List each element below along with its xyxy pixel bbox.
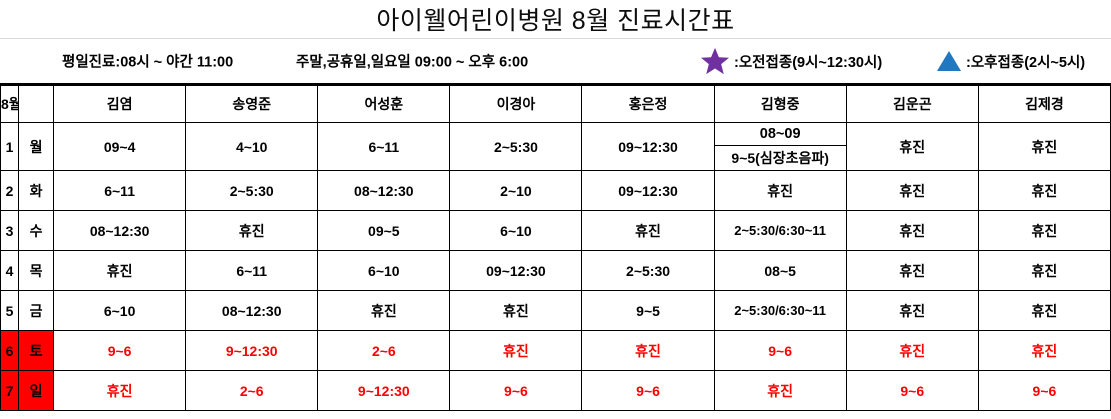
day-number: 3 — [1, 211, 19, 251]
schedule-cell: 08~12:30 — [54, 211, 186, 251]
schedule-cell: 휴진 — [54, 251, 186, 291]
doctor-header-2: 송영준 — [186, 86, 318, 123]
schedule-cell: 휴진 — [978, 171, 1110, 211]
day-number: 5 — [1, 291, 19, 331]
schedule-cell: 09~4 — [54, 123, 186, 171]
header-blank-cell — [19, 86, 54, 123]
title-bar: 아이웰어린이병원 8월 진료시간표 — [0, 0, 1111, 39]
schedule-cell: 휴진 — [714, 171, 846, 211]
schedule-cell: 6~10 — [54, 291, 186, 331]
schedule-cell: 9~5 — [582, 291, 714, 331]
day-of-week: 목 — [19, 251, 54, 291]
page-title: 아이웰어린이병원 8월 진료시간표 — [376, 1, 734, 37]
schedule-cell: 6~10 — [450, 211, 582, 251]
table-row: 2화6~112~5:3008~12:302~1009~12:30휴진휴진휴진 — [1, 171, 1111, 211]
schedule-cell: 휴진 — [978, 291, 1110, 331]
day-number: 1 — [1, 123, 19, 171]
doctor-header-6: 김형중 — [714, 86, 846, 123]
schedule-cell: 09~12:30 — [582, 171, 714, 211]
schedule-cell: 휴진 — [978, 211, 1110, 251]
schedule-cell: 6~11 — [54, 171, 186, 211]
schedule-cell: 휴진 — [846, 171, 978, 211]
day-of-week: 토 — [19, 331, 54, 371]
doctor-header-4: 이경아 — [450, 86, 582, 123]
doctor-header-3: 어성훈 — [318, 86, 450, 123]
table-row: 5금6~1008~12:30휴진휴진9~52~5:30/6:30~11휴진휴진 — [1, 291, 1111, 331]
schedule-cell: 휴진 — [186, 211, 318, 251]
legend-afternoon-vaccination: :오후접종(2시~5시) — [936, 49, 1085, 73]
schedule-cell: 2~5:30 — [582, 251, 714, 291]
schedule-cell: 9~6 — [978, 371, 1110, 411]
table-row: 7일휴진2~69~12:309~69~6휴진9~69~6 — [1, 371, 1111, 411]
schedule-cell-line-top: 08~09 — [715, 123, 846, 146]
table-row: 1월09~44~106~112~5:3009~12:3008~099~5(심장초… — [1, 123, 1111, 171]
schedule-cell: 휴진 — [846, 211, 978, 251]
schedule-cell: 휴진 — [714, 371, 846, 411]
day-of-week: 월 — [19, 123, 54, 171]
schedule-cell: 휴진 — [318, 291, 450, 331]
schedule-cell: 2~6 — [318, 331, 450, 371]
schedule-cell: 6~11 — [186, 251, 318, 291]
schedule-cell: 9~6 — [54, 331, 186, 371]
schedule-cell: 08~099~5(심장초음파) — [714, 123, 846, 171]
schedule-cell: 08~12:30 — [318, 171, 450, 211]
schedule-cell-line-bottom: 9~5(심장초음파) — [715, 146, 846, 170]
table-row: 4목휴진6~116~1009~12:302~5:3008~5휴진휴진 — [1, 251, 1111, 291]
weekend-hours-text: 주말,공휴일,일요일 09:00 ~ 오후 6:00 — [296, 51, 528, 72]
schedule-cell: 9~6 — [714, 331, 846, 371]
schedule-cell: 9~6 — [582, 371, 714, 411]
day-of-week: 금 — [19, 291, 54, 331]
day-of-week: 수 — [19, 211, 54, 251]
schedule-cell: 휴진 — [582, 211, 714, 251]
legend-morning-vaccination: :오전접종(9시~12:30시) — [700, 47, 882, 75]
weekday-hours-text: 평일진료:08시 ~ 야간 11:00 — [62, 51, 233, 72]
month-label: 8월 — [1, 86, 19, 123]
schedule-table: 8월김염송영준어성훈이경아홍은정김형중김운곤김제경1월09~44~106~112… — [0, 85, 1111, 411]
schedule-cell: 09~12:30 — [450, 251, 582, 291]
schedule-table-body: 8월김염송영준어성훈이경아홍은정김형중김운곤김제경1월09~44~106~112… — [1, 86, 1111, 411]
schedule-cell: 2~5:30 — [186, 171, 318, 211]
schedule-cell: 휴진 — [582, 331, 714, 371]
schedule-cell: 08~5 — [714, 251, 846, 291]
doctor-header-5: 홍은정 — [582, 86, 714, 123]
schedule-cell: 2~5:30/6:30~11 — [714, 211, 846, 251]
schedule-cell: 9~6 — [846, 371, 978, 411]
doctor-header-7: 김운곤 — [846, 86, 978, 123]
schedule-cell: 9~12:30 — [318, 371, 450, 411]
star-icon — [700, 47, 730, 75]
schedule-cell: 09~12:30 — [582, 123, 714, 171]
schedule-cell: 휴진 — [450, 331, 582, 371]
schedule-cell: 08~12:30 — [186, 291, 318, 331]
day-of-week: 화 — [19, 171, 54, 211]
legend-afternoon-label: :오후접종(2시~5시) — [966, 51, 1085, 72]
schedule-cell: 2~6 — [186, 371, 318, 411]
schedule-cell: 2~10 — [450, 171, 582, 211]
schedule-cell: 9~12:30 — [186, 331, 318, 371]
schedule-cell: 2~5:30 — [450, 123, 582, 171]
day-number: 7 — [1, 371, 19, 411]
info-legend-bar: 평일진료:08시 ~ 야간 11:00 주말,공휴일,일요일 09:00 ~ 오… — [0, 39, 1111, 85]
schedule-cell: 4~10 — [186, 123, 318, 171]
schedule-cell: 휴진 — [846, 123, 978, 171]
table-row: 6토9~69~12:302~6휴진휴진9~6휴진휴진 — [1, 331, 1111, 371]
day-number: 2 — [1, 171, 19, 211]
day-of-week: 일 — [19, 371, 54, 411]
schedule-cell: 휴진 — [846, 291, 978, 331]
schedule-cell: 6~11 — [318, 123, 450, 171]
schedule-cell: 2~5:30/6:30~11 — [714, 291, 846, 331]
schedule-cell: 9~6 — [450, 371, 582, 411]
schedule-cell: 휴진 — [450, 291, 582, 331]
schedule-cell: 휴진 — [978, 331, 1110, 371]
day-number: 6 — [1, 331, 19, 371]
schedule-page: 아이웰어린이병원 8월 진료시간표 평일진료:08시 ~ 야간 11:00 주말… — [0, 0, 1111, 419]
schedule-cell: 휴진 — [846, 331, 978, 371]
table-header-row: 8월김염송영준어성훈이경아홍은정김형중김운곤김제경 — [1, 86, 1111, 123]
schedule-cell: 휴진 — [846, 251, 978, 291]
schedule-cell: 09~5 — [318, 211, 450, 251]
schedule-cell: 6~10 — [318, 251, 450, 291]
schedule-cell: 휴진 — [54, 371, 186, 411]
table-row: 3수08~12:30휴진09~56~10휴진2~5:30/6:30~11휴진휴진 — [1, 211, 1111, 251]
doctor-header-8: 김제경 — [978, 86, 1110, 123]
legend-morning-label: :오전접종(9시~12:30시) — [734, 51, 882, 72]
schedule-cell: 휴진 — [978, 251, 1110, 291]
schedule-cell: 휴진 — [978, 123, 1110, 171]
triangle-icon — [936, 49, 962, 73]
day-number: 4 — [1, 251, 19, 291]
doctor-header-1: 김염 — [54, 86, 186, 123]
